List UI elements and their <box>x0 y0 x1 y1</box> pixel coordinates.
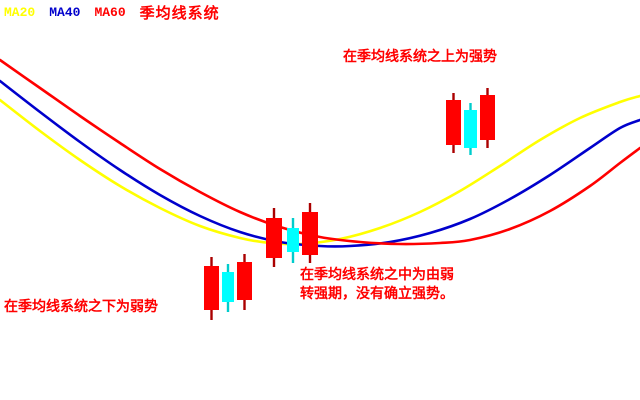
annotation-within-ma: 在季均线系统之中为由弱 转强期，没有确立强势。 <box>300 266 454 304</box>
candle-body <box>480 95 495 140</box>
candle-body <box>237 262 252 300</box>
candle-cluster-below <box>204 254 252 320</box>
legend: MA20 MA40 MA60 季均线系统 <box>4 2 220 23</box>
candle-body <box>204 266 219 310</box>
annotation-above-ma: 在季均线系统之上为强势 <box>343 48 497 67</box>
candle-body <box>464 110 477 148</box>
chart-title: 季均线系统 <box>140 2 220 23</box>
candle-cluster-above <box>446 88 495 155</box>
candle-body <box>287 228 299 252</box>
candle-body <box>302 212 318 255</box>
legend-item-ma60: MA60 <box>94 5 125 20</box>
annotation-within-ma-line2: 转强期，没有确立强势。 <box>300 285 454 304</box>
legend-item-ma40: MA40 <box>49 5 80 20</box>
candle-body <box>222 272 234 302</box>
candle-body <box>266 218 282 258</box>
chart-canvas: MA20 MA40 MA60 季均线系统 在季均线系统之上为强势 在季均线系统之… <box>0 0 640 400</box>
ma-line-group <box>0 60 640 247</box>
candle-body <box>446 100 461 145</box>
ma-line-ma40 <box>0 81 640 247</box>
annotation-within-ma-line1: 在季均线系统之中为由弱 <box>300 266 454 285</box>
ma-curves-and-candles <box>0 0 640 400</box>
legend-item-ma20: MA20 <box>4 5 35 20</box>
annotation-below-ma: 在季均线系统之下为弱势 <box>4 298 158 317</box>
candle-cluster-middle <box>266 203 318 267</box>
ma-line-ma20 <box>0 96 640 244</box>
